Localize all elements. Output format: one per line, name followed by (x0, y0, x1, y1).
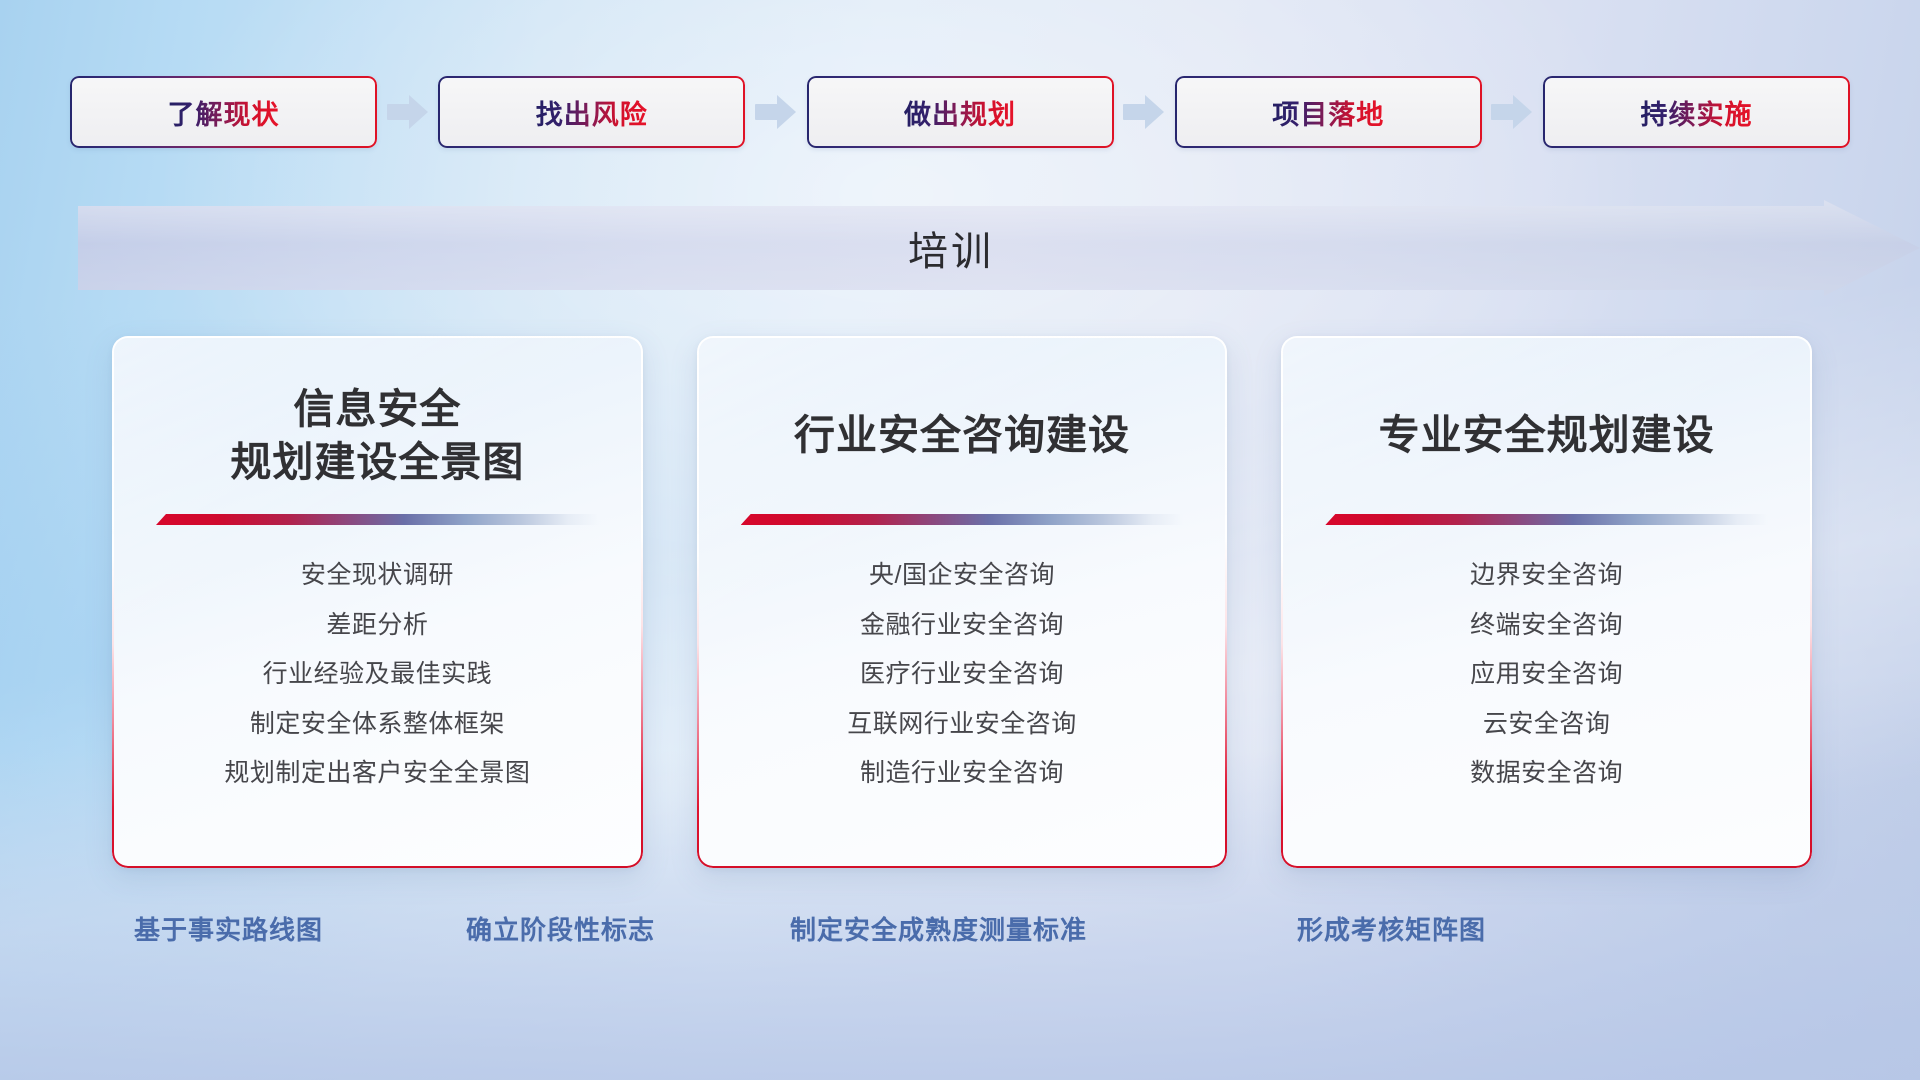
training-banner: 培训 (78, 200, 1920, 296)
process-step-2[interactable]: 找出风险 (438, 76, 745, 148)
list-item: 制定安全体系整体框架 (250, 706, 505, 744)
process-step-label: 了解现状 (168, 93, 280, 132)
capability-card[interactable]: 信息安全 规划建设全景图 安全现状调研 差距分析 行业经验及最佳实践 制定安全体… (112, 336, 643, 868)
card-accent-divider (1325, 514, 1768, 525)
process-step-5[interactable]: 持续实施 (1543, 76, 1850, 148)
footer-label-row: 基于事实路线图 确立阶段性标志 制定安全成熟度测量标准 形成考核矩阵图 (0, 910, 1920, 970)
card-title-line: 行业安全咨询建设 (794, 409, 1130, 462)
list-item: 应用安全咨询 (1470, 656, 1623, 694)
process-step-label: 做出规划 (904, 93, 1016, 132)
card-accent-divider (741, 514, 1184, 525)
slide-canvas: 了解现状 找出风险 做出规划 项目落地 持续实施 培训 (0, 0, 1920, 1080)
process-step-1[interactable]: 了解现状 (70, 76, 377, 148)
list-item: 医疗行业安全咨询 (860, 656, 1064, 694)
process-step-3[interactable]: 做出规划 (807, 76, 1114, 148)
list-item: 金融行业安全咨询 (860, 607, 1064, 645)
process-step-label: 项目落地 (1272, 93, 1384, 132)
list-item: 安全现状调研 (301, 557, 454, 595)
list-item: 规划制定出客户安全全景图 (224, 755, 530, 793)
right-arrow-icon (755, 95, 797, 129)
banner-title: 培训 (78, 200, 1824, 296)
card-title-line: 信息安全 (293, 383, 461, 436)
card-item-list: 央/国企安全咨询 金融行业安全咨询 医疗行业安全咨询 互联网行业安全咨询 制造行… (727, 557, 1198, 793)
list-item: 互联网行业安全咨询 (847, 706, 1077, 744)
card-title-line: 专业安全规划建设 (1379, 409, 1715, 462)
card-title: 专业安全规划建设 (1311, 380, 1782, 492)
card-title: 信息安全 规划建设全景图 (142, 380, 613, 492)
process-step-label: 持续实施 (1641, 93, 1753, 132)
list-item: 差距分析 (326, 607, 428, 645)
list-item: 终端安全咨询 (1470, 607, 1623, 645)
footer-label: 形成考核矩阵图 (1297, 910, 1486, 947)
process-step-row: 了解现状 找出风险 做出规划 项目落地 持续实施 (70, 76, 1850, 148)
list-item: 行业经验及最佳实践 (263, 656, 493, 694)
right-arrow-icon (1491, 95, 1533, 129)
card-item-list: 边界安全咨询 终端安全咨询 应用安全咨询 云安全咨询 数据安全咨询 (1311, 557, 1782, 793)
capability-card[interactable]: 行业安全咨询建设 央/国企安全咨询 金融行业安全咨询 医疗行业安全咨询 互联网行… (697, 336, 1228, 868)
capability-card[interactable]: 专业安全规划建设 边界安全咨询 终端安全咨询 应用安全咨询 云安全咨询 数据安全… (1281, 336, 1812, 868)
list-item: 制造行业安全咨询 (860, 755, 1064, 793)
process-step-label: 找出风险 (536, 93, 648, 132)
footer-label: 基于事实路线图 (134, 910, 323, 947)
list-item: 边界安全咨询 (1470, 557, 1623, 595)
card-item-list: 安全现状调研 差距分析 行业经验及最佳实践 制定安全体系整体框架 规划制定出客户… (142, 557, 613, 793)
card-title-line: 规划建设全景图 (230, 436, 524, 489)
right-arrow-icon (1123, 95, 1165, 129)
list-item: 云安全咨询 (1483, 706, 1611, 744)
process-step-4[interactable]: 项目落地 (1175, 76, 1482, 148)
footer-label: 确立阶段性标志 (466, 910, 655, 947)
list-item: 央/国企安全咨询 (869, 557, 1055, 595)
capability-card-row: 信息安全 规划建设全景图 安全现状调研 差距分析 行业经验及最佳实践 制定安全体… (112, 336, 1812, 868)
footer-label: 制定安全成熟度测量标准 (790, 910, 1087, 947)
list-item: 数据安全咨询 (1470, 755, 1623, 793)
card-title: 行业安全咨询建设 (727, 380, 1198, 492)
card-accent-divider (156, 514, 599, 525)
right-arrow-icon (387, 95, 429, 129)
